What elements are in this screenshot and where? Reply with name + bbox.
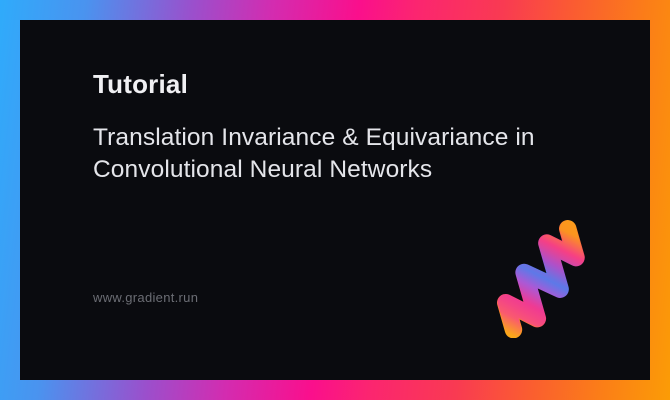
social-card-frame: Tutorial Translation Invariance & Equiva… xyxy=(0,0,670,400)
card-headline: Translation Invariance & Equivariance in… xyxy=(93,122,573,186)
gradient-zigzag-logo-icon xyxy=(480,216,602,338)
card-eyebrow-label: Tutorial xyxy=(93,68,583,100)
card-text-content: Tutorial Translation Invariance & Equiva… xyxy=(93,68,583,186)
card-site-url: www.gradient.run xyxy=(93,290,198,305)
card-panel: Tutorial Translation Invariance & Equiva… xyxy=(20,20,650,380)
